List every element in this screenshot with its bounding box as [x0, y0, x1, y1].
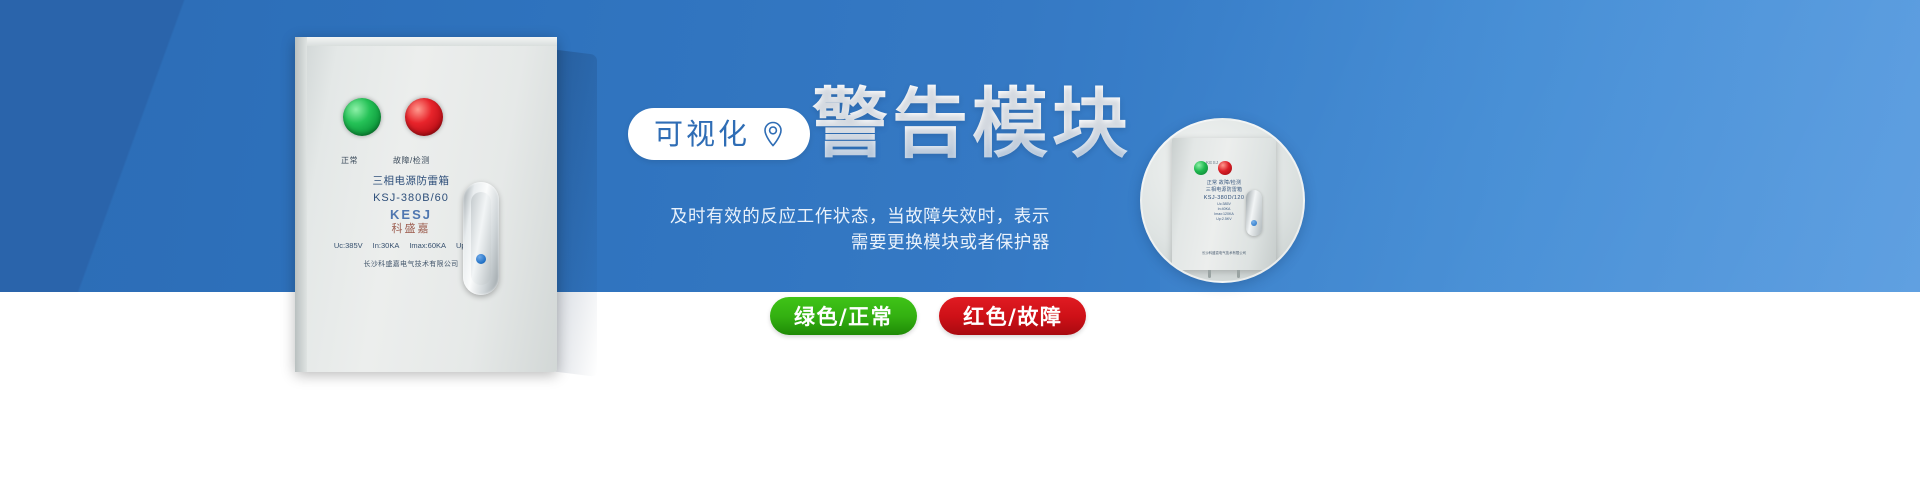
inset-leg [1267, 270, 1270, 278]
panel-left-edge [295, 37, 307, 372]
subtitle-line-1: 及时有效的反应工作状态，当故障失效时，表示 [620, 204, 1050, 230]
inset-lamp-green [1194, 161, 1208, 175]
cabinet-handle-lock-icon [476, 254, 486, 264]
visualization-badge: 可视化 [628, 108, 810, 160]
inset-company-name: 长沙科盛嘉电气技术有限公司 [1180, 250, 1268, 255]
spec-item: In:30KA [373, 241, 400, 251]
inset-cabinet: KESJ 正常 故障/检测 三相电源防雷箱 KSJ-380D/120 Uc:38… [1172, 138, 1276, 270]
indicator-lamp-red [405, 98, 443, 136]
page-title: 警告模块 [812, 84, 1132, 164]
visualization-badge-label: 可视化 [654, 120, 750, 149]
status-badge-fault: 红色/故障 [939, 297, 1086, 335]
product-photo-shadow [551, 49, 597, 377]
panel-top-edge [295, 37, 557, 46]
cabinet-handle-inner [471, 192, 491, 285]
subtitle-line-2: 需要更换模块或者保护器 [620, 230, 1050, 256]
spec-item: Uc:385V [334, 241, 363, 251]
inset-lamp-red [1218, 161, 1232, 175]
spec-item: Imax:60KA [409, 241, 446, 251]
lamp-label-normal: 正常 [341, 155, 358, 166]
inset-label-normal: 正常 [1207, 180, 1217, 186]
subtitle-block: 及时有效的反应工作状态，当故障失效时，表示 需要更换模块或者保护器 [620, 204, 1050, 256]
inset-brand-tag: KESJ [1206, 160, 1218, 165]
status-badge-normal: 绿色/正常 [770, 297, 917, 335]
inset-label-fault: 故障/检测 [1219, 180, 1241, 186]
product-photo-main: 正常 故障/检测 三相电源防雷箱 KSJ-380B/60 KESJ 科盛嘉 Uc… [295, 37, 557, 372]
inset-leg [1237, 270, 1240, 278]
inset-leg [1178, 270, 1181, 278]
inset-lamp-labels: 正常 故障/检测 [1182, 180, 1266, 187]
indicator-lamp-green [343, 98, 381, 136]
cabinet-handle [463, 182, 499, 295]
lamp-label-fault: 故障/检测 [393, 155, 430, 166]
inset-cabinet-legs [1178, 270, 1270, 278]
status-pill-group: 绿色/正常 红色/故障 [770, 297, 1086, 335]
inset-leg [1208, 270, 1211, 278]
inset-cabinet-handle [1246, 190, 1262, 236]
location-pin-icon [762, 121, 784, 147]
inset-handle-lock-icon [1251, 220, 1257, 226]
banner-diagonal-accent [0, 0, 330, 292]
promo-banner: 正常 故障/检测 三相电源防雷箱 KSJ-380B/60 KESJ 科盛嘉 Uc… [0, 0, 1920, 500]
product-photo-inset: KESJ 正常 故障/检测 三相电源防雷箱 KSJ-380D/120 Uc:38… [1140, 118, 1305, 283]
